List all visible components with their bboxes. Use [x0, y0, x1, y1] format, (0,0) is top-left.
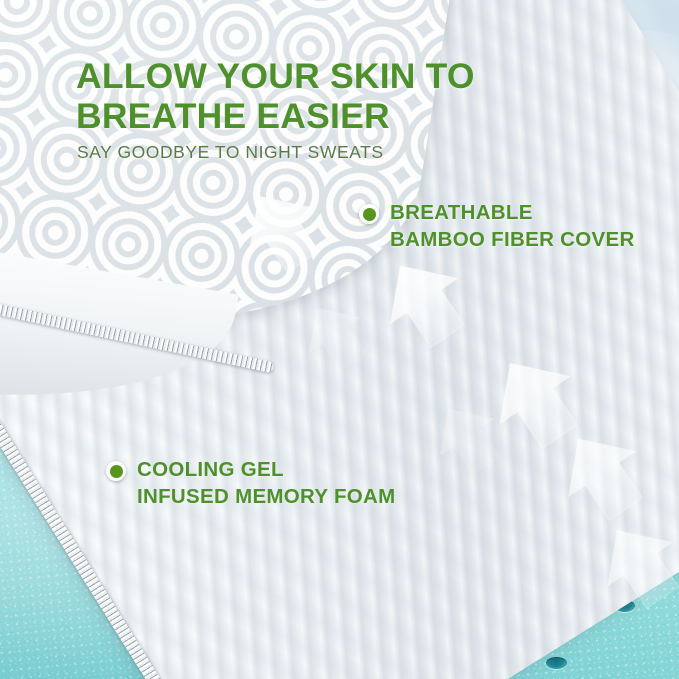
callout-label: COOLING GEL INFUSED MEMORY FOAM [137, 457, 396, 510]
callout-label: BREATHABLE BAMBOO FIBER COVER [390, 200, 635, 253]
callout-breathable-bamboo-fiber-cover: BREATHABLE BAMBOO FIBER COVER [359, 200, 635, 253]
page-subtitle: SAY GOODBYE TO NIGHT SWEATS [77, 141, 384, 163]
bullet-dot-icon [106, 461, 126, 481]
product-infographic: ALLOW YOUR SKIN TO BREATHE EASIER SAY GO… [0, 0, 679, 679]
ventilation-hole [546, 657, 567, 669]
page-title: ALLOW YOUR SKIN TO BREATHE EASIER [76, 56, 475, 136]
callout-cooling-gel-infused-memory-foam: COOLING GEL INFUSED MEMORY FOAM [106, 457, 396, 510]
bullet-dot-icon [359, 204, 379, 224]
